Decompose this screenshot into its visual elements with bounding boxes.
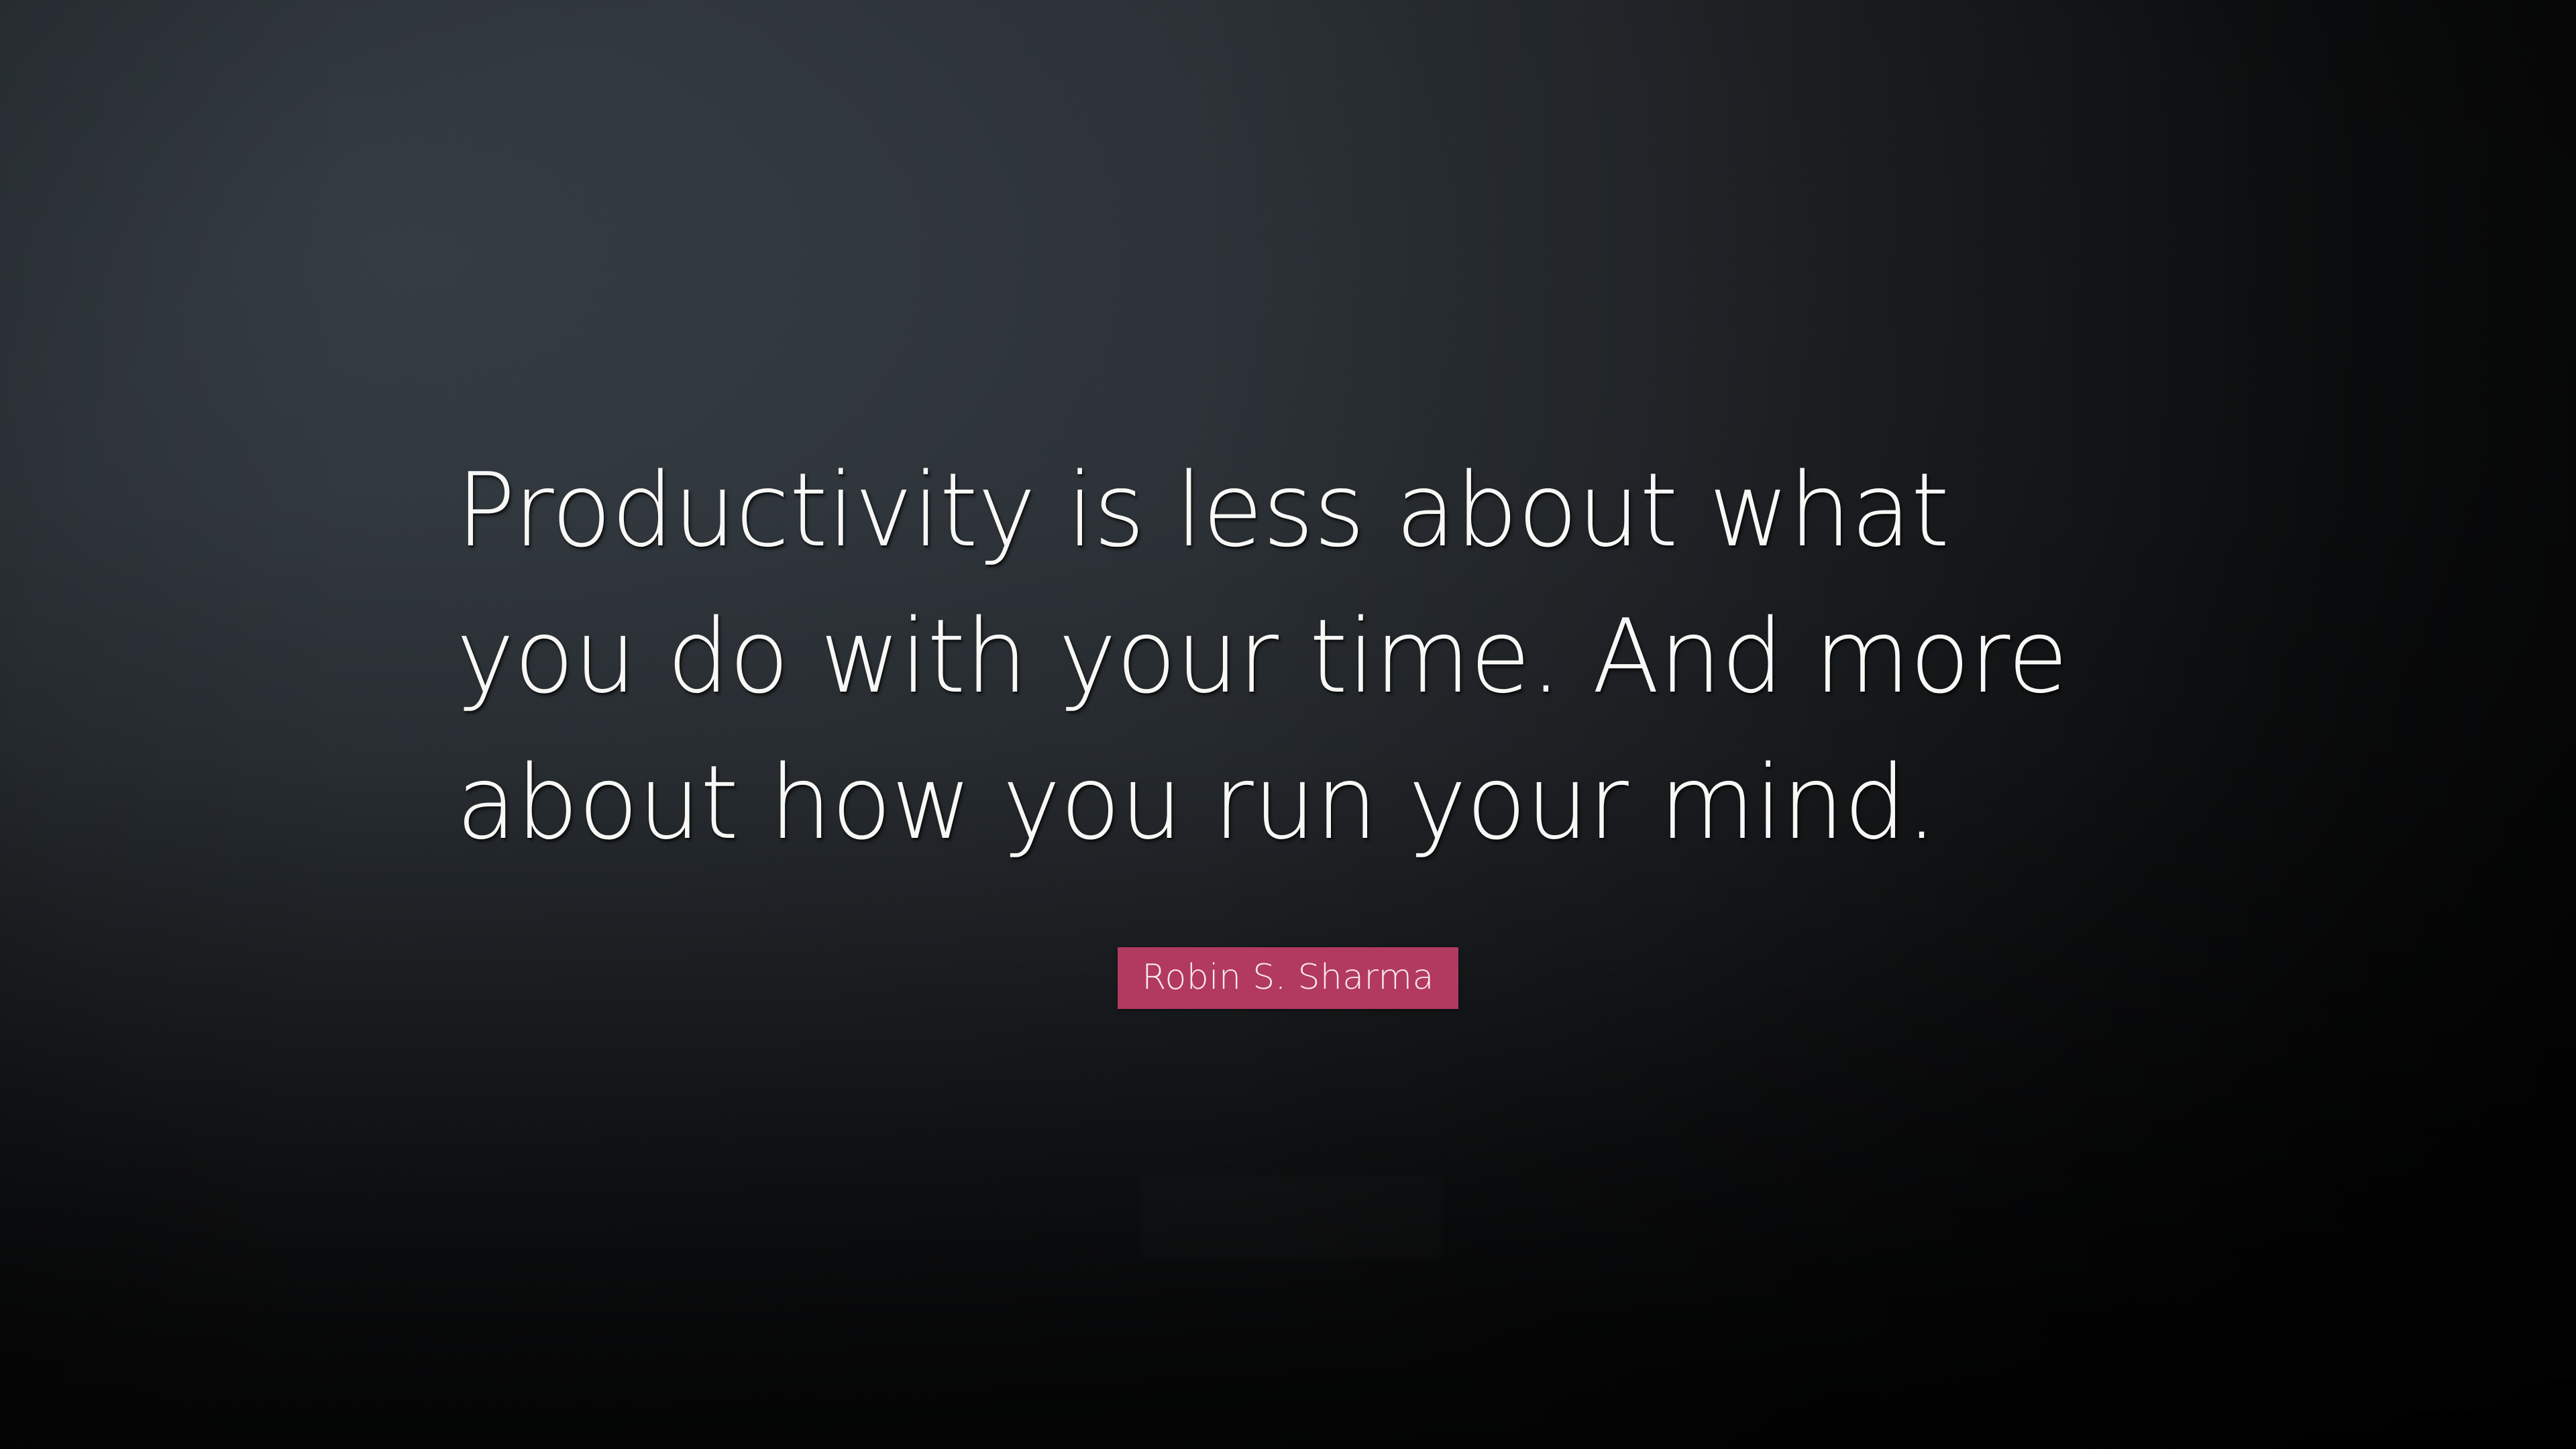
author-badge[interactable]: Robin S. Sharma <box>1118 947 1458 1009</box>
quote-image-canvas: Productivity is less about what you do w… <box>0 0 2576 1449</box>
quote-content: Productivity is less about what you do w… <box>0 0 2576 1449</box>
quote-line-2: you do with your time. And more <box>456 584 2113 730</box>
quote-text-block: Productivity is less about what you do w… <box>456 437 2173 876</box>
quote-line-3: about how you run your mind. <box>456 730 2113 876</box>
quote-line-1: Productivity is less about what <box>456 437 2113 584</box>
attribution-container: Robin S. Sharma <box>0 947 2576 1009</box>
